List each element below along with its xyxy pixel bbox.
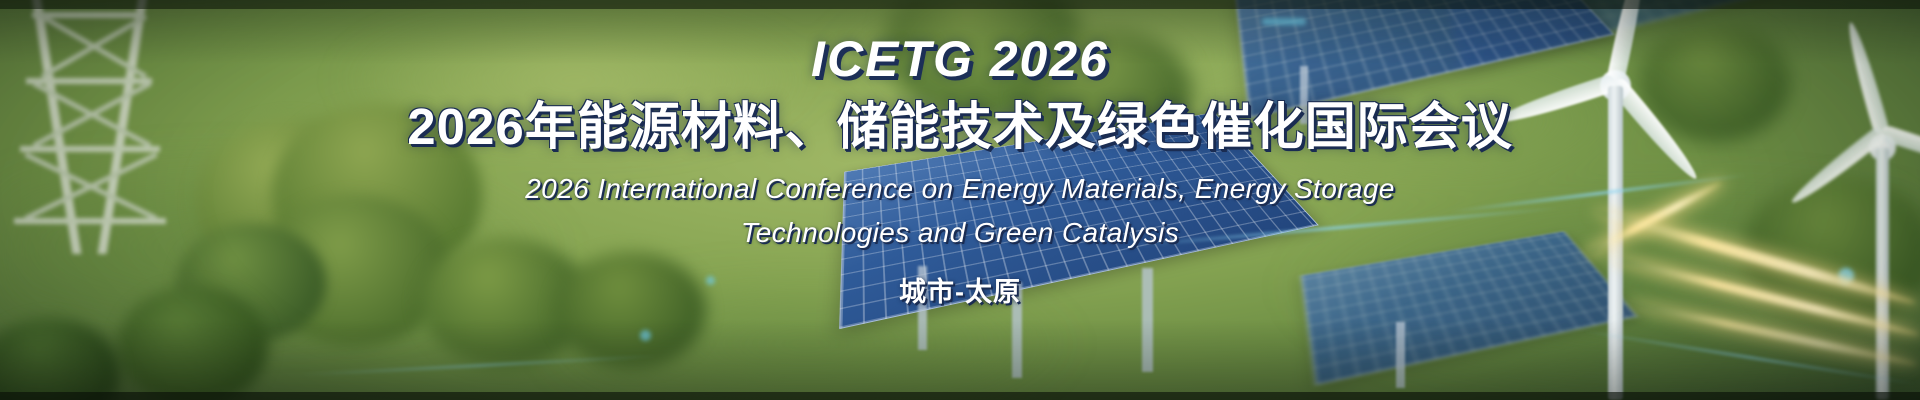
conference-chinese-title: 2026年能源材料、储能技术及绿色催化国际会议	[407, 100, 1512, 153]
conference-acronym-title: ICETG 2026	[811, 34, 1109, 84]
conference-banner: ICETG 2026 2026年能源材料、储能技术及绿色催化国际会议 2026 …	[0, 0, 1920, 400]
conference-english-title-line1: 2026 International Conference on Energy …	[525, 167, 1395, 211]
conference-english-title-line2: Technologies and Green Catalysis	[741, 211, 1179, 255]
conference-city-label: 城市-太原	[899, 270, 1021, 309]
banner-content: ICETG 2026 2026年能源材料、储能技术及绿色催化国际会议 2026 …	[0, 0, 1920, 400]
